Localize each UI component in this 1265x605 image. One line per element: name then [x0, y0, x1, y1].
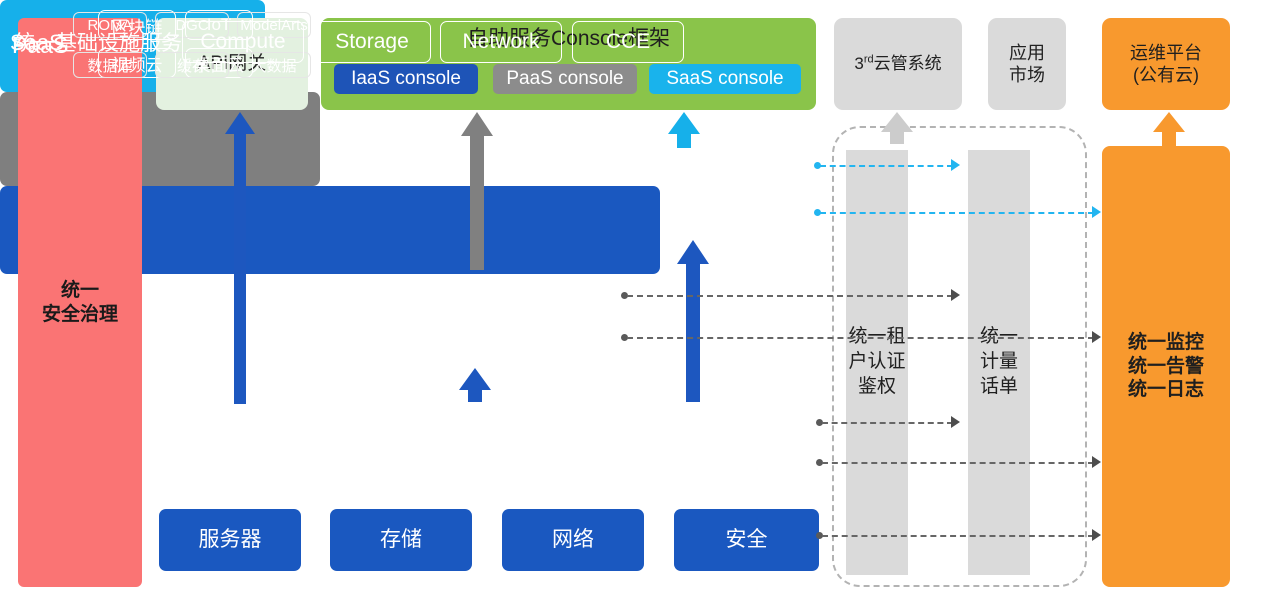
ops-platform-line-2: (公有云) — [1130, 64, 1202, 87]
third-party-superscript: rd — [864, 54, 874, 66]
arrow-infra-to-saas — [674, 240, 712, 402]
connector-hardware-to-ops — [822, 535, 1094, 537]
connector-arrowhead-paas-2 — [1092, 331, 1101, 343]
app-market-line-1: 应用 — [1009, 42, 1045, 65]
monitoring-line-3: 统一日志 — [1128, 378, 1204, 402]
infra-chip-storage[interactable]: Storage — [313, 21, 431, 63]
auth-line-2: 户认证 — [848, 350, 905, 375]
application-market-box: 应用 市场 — [988, 18, 1066, 110]
saas-console-chip[interactable]: SaaS console — [649, 64, 801, 94]
hardware-security-label: 安全 — [726, 527, 768, 553]
paas-console-label: PaaS console — [506, 67, 623, 91]
metering-line-3: 话单 — [980, 375, 1018, 400]
arrow-infra-to-api-gateway — [222, 112, 258, 404]
paas-chip-database-label: 数据库 — [87, 55, 132, 76]
ops-platform-line-1: 运维平台 — [1130, 42, 1202, 65]
monitoring-line-1: 统一监控 — [1128, 331, 1204, 355]
architecture-diagram: 统一 安全治理 API网关 自助服务Console框架 IaaS console… — [0, 0, 1265, 605]
governance-line-2: 安全治理 — [42, 303, 118, 327]
hardware-box-storage: 存储 — [330, 509, 472, 571]
ops-platform-public-cloud-box: 运维平台 (公有云) — [1102, 18, 1230, 110]
connector-arrowhead-infra-1 — [951, 416, 960, 428]
hardware-storage-label: 存储 — [380, 527, 422, 553]
infra-chip-compute[interactable]: Compute — [182, 21, 304, 63]
arrow-paas-to-console — [457, 112, 497, 270]
infra-chip-compute-label: Compute — [200, 30, 285, 54]
connector-paas-to-auth — [627, 295, 953, 297]
connector-arrowhead-hardware — [1092, 529, 1101, 541]
connector-arrowhead-infra-2 — [1092, 456, 1101, 468]
connector-infra-to-ops — [822, 462, 1094, 464]
connector-arrowhead-paas-1 — [951, 289, 960, 301]
iaas-console-chip[interactable]: IaaS console — [334, 64, 478, 94]
connector-arrowhead-saas-1 — [951, 159, 960, 171]
arrow-infra-to-paas — [455, 368, 495, 402]
infra-chip-cce[interactable]: CCE — [572, 21, 684, 63]
hardware-box-network: 网络 — [502, 509, 644, 571]
auth-line-3: 鉴权 — [848, 375, 905, 400]
hardware-server-label: 服务器 — [199, 527, 262, 553]
monitoring-line-2: 统一告警 — [1128, 355, 1204, 379]
arrow-into-third-party-cloud — [878, 112, 916, 144]
unified-security-governance-column: 统一 安全治理 — [18, 18, 142, 587]
third-party-prefix: 3 — [854, 54, 863, 73]
connector-paas-to-ops — [627, 337, 1094, 339]
infrastructure-label: 统一基础设施服务 — [14, 27, 182, 57]
connector-saas-to-ops — [820, 212, 1094, 214]
third-party-cloud-management-box: 3rd云管系统 — [834, 18, 962, 110]
paas-console-chip[interactable]: PaaS console — [493, 64, 637, 94]
iaas-console-label: IaaS console — [351, 67, 461, 91]
infra-chip-network-label: Network — [462, 30, 539, 54]
app-market-line-2: 市场 — [1009, 64, 1045, 87]
infra-chip-storage-label: Storage — [335, 30, 409, 54]
arrow-saas-to-console — [665, 112, 703, 148]
hardware-network-label: 网络 — [552, 527, 594, 553]
connector-arrowhead-saas-2 — [1092, 206, 1101, 218]
metering-line-2: 计量 — [980, 350, 1018, 375]
infra-chip-cce-label: CCE — [606, 30, 650, 54]
governance-line-1: 统一 — [42, 279, 118, 303]
hardware-box-server: 服务器 — [159, 509, 301, 571]
connector-saas-to-auth — [820, 165, 953, 167]
unified-monitoring-column: 统一监控 统一告警 统一日志 — [1102, 146, 1230, 587]
infra-chip-network[interactable]: Network — [440, 21, 562, 63]
connector-infra-to-auth — [822, 422, 953, 424]
saas-console-label: SaaS console — [666, 67, 783, 91]
hardware-box-security: 安全 — [674, 509, 819, 571]
arrow-into-ops-platform — [1150, 112, 1188, 146]
third-party-suffix: 云管系统 — [874, 54, 942, 73]
